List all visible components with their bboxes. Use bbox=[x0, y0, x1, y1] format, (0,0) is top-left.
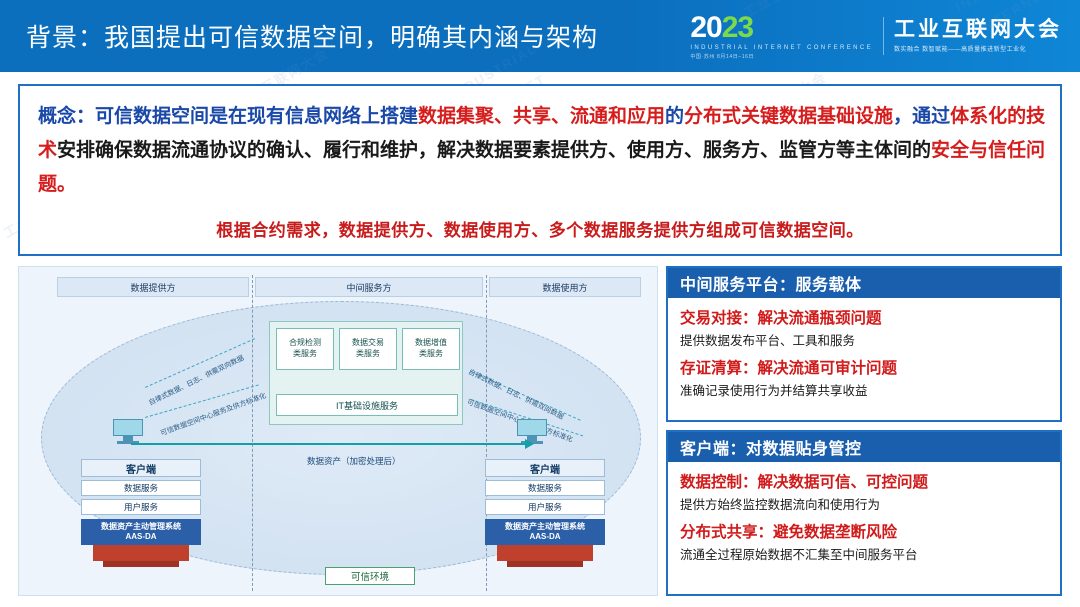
concept-summary: 根据合约需求，数据提供方、数据使用方、多个数据服务提供方组成可信数据空间。 bbox=[20, 216, 1060, 241]
concept-seg-0: 概念：可信数据空间是在现有信息网络上搭建 bbox=[38, 106, 418, 127]
kiosk-right-screen bbox=[517, 419, 547, 436]
client-right-pedestal-base bbox=[507, 561, 583, 567]
client-left-foot-line1: 数据资产主动管理系统 bbox=[101, 522, 181, 532]
architecture-diagram: 数据提供方 中间服务方 数据使用方 合规检测 类服务 数据交易 类服务 数据增值… bbox=[18, 266, 658, 596]
client-right-item-0: 数据服务 bbox=[485, 480, 605, 496]
logo-cn-title: 工业互联网大会 bbox=[894, 19, 1062, 41]
kiosk-left-icon bbox=[113, 419, 143, 445]
panel-2-head: 客户端：对数据贴身管控 bbox=[668, 432, 1060, 462]
trusted-environment-label: 可信环境 bbox=[325, 567, 415, 585]
panel-1-head: 中间服务平台：服务载体 bbox=[668, 268, 1060, 298]
service-cell-compliance: 合规检测 类服务 bbox=[276, 328, 334, 370]
client-left-foot-line2: AAS-DA bbox=[125, 532, 156, 542]
concept-seg-2: 的 bbox=[665, 106, 684, 127]
conference-logo: 2023 INDUSTRIAL INTERNET CONFERENCE 中国·苏… bbox=[690, 10, 1062, 62]
service-cell-compliance-l1: 合规检测 bbox=[289, 338, 321, 349]
panel-1-row-0-title-a: 交易对接： bbox=[680, 310, 758, 327]
service-cell-exchange-l1: 数据交易 bbox=[352, 338, 384, 349]
lane-data-consumer: 数据使用方 bbox=[489, 277, 641, 297]
client-right-pedestal bbox=[497, 545, 593, 561]
intermediary-service-box: 合规检测 类服务 数据交易 类服务 数据增值 类服务 IT基础设施服务 bbox=[269, 321, 463, 425]
service-it-infra: IT基础设施服务 bbox=[276, 394, 458, 416]
panel-2-row-1-title-a: 分布式共享： bbox=[680, 524, 773, 541]
concept-seg-1: 数据集聚、共享、流通和应用 bbox=[418, 106, 665, 127]
lane-intermediary: 中间服务方 bbox=[255, 277, 483, 297]
panel-2-row-0-title-a: 数据控制： bbox=[680, 474, 758, 491]
page-title: 背景：我国提出可信数据空间，明确其内涵与架构 bbox=[26, 18, 598, 54]
panel-2-row-0-title: 数据控制：解决数据可信、可控问题 bbox=[680, 470, 1048, 492]
panel-2-body: 数据控制：解决数据可信、可控问题 提供方始终监控数据流向和使用行为 分布式共享：… bbox=[668, 462, 1060, 563]
client-left-foot: 数据资产主动管理系统 AAS-DA bbox=[81, 519, 201, 545]
panel-1-row-1-title-b: 解决流通可审计问题 bbox=[758, 360, 898, 377]
service-cell-valueadd-l1: 数据增值 bbox=[415, 338, 447, 349]
concept-text: 概念：可信数据空间是在现有信息网络上搭建数据集聚、共享、流通和应用的分布式关键数… bbox=[38, 100, 1046, 202]
service-cell-valueadd-l2: 类服务 bbox=[419, 349, 443, 360]
client-left-title: 客户端 bbox=[81, 459, 201, 477]
panel-1-body: 交易对接：解决流通瓶颈问题 提供数据发布平台、工具和服务 存证清算：解决流通可审… bbox=[668, 298, 1060, 399]
panel-client-control: 客户端：对数据贴身管控 数据控制：解决数据可信、可控问题 提供方始终监控数据流向… bbox=[666, 430, 1062, 596]
client-left-item-1: 用户服务 bbox=[81, 499, 201, 515]
divider-line-left bbox=[252, 275, 253, 591]
data-flow-arrow-head bbox=[525, 439, 534, 449]
panel-1-row-0-title-b: 解决流通瓶颈问题 bbox=[758, 310, 882, 327]
panel-1-row-0-desc: 提供数据发布平台、工具和服务 bbox=[680, 330, 1048, 349]
panel-2-row-0-desc: 提供方始终监控数据流向和使用行为 bbox=[680, 494, 1048, 513]
panel-2-row-1-title: 分布式共享：避免数据垄断风险 bbox=[680, 520, 1048, 542]
logo-year: 2023 bbox=[690, 13, 873, 43]
panel-intermediary-platform: 中间服务平台：服务载体 交易对接：解决流通瓶颈问题 提供数据发布平台、工具和服务… bbox=[666, 266, 1062, 422]
panel-1-row-1-title-a: 存证清算： bbox=[680, 360, 758, 377]
client-right-item-1: 用户服务 bbox=[485, 499, 605, 515]
client-right-foot: 数据资产主动管理系统 AAS-DA bbox=[485, 519, 605, 545]
panel-2-row-0-title-b: 解决数据可信、可控问题 bbox=[758, 474, 929, 491]
panel-1-row-0-title: 交易对接：解决流通瓶颈问题 bbox=[680, 306, 1048, 328]
service-cell-row: 合规检测 类服务 数据交易 类服务 数据增值 类服务 bbox=[276, 328, 460, 370]
service-cell-compliance-l2: 类服务 bbox=[293, 349, 317, 360]
concept-seg-3: 分布式关键数据基础设施 bbox=[684, 106, 893, 127]
logo-year-first: 20 bbox=[690, 11, 721, 44]
concept-box: 概念：可信数据空间是在现有信息网络上搭建数据集聚、共享、流通和应用的分布式关键数… bbox=[18, 84, 1062, 256]
logo-divider bbox=[883, 17, 884, 55]
client-left: 客户端 数据服务 用户服务 数据资产主动管理系统 AAS-DA bbox=[81, 459, 201, 559]
panel-1-row-1-desc: 准确记录使用行为并结算共享收益 bbox=[680, 380, 1048, 399]
data-flow-arrow-line bbox=[131, 443, 527, 445]
slide-header: 背景：我国提出可信数据空间，明确其内涵与架构 2023 INDUSTRIAL I… bbox=[0, 0, 1080, 72]
concept-seg-6: 安排确保数据流通协议的确认、履行和维护，解决数据要素提供方、使用方、服务方、监管… bbox=[57, 140, 931, 161]
service-cell-valueadd: 数据增值 类服务 bbox=[402, 328, 460, 370]
panel-1-row-1-title: 存证清算：解决流通可审计问题 bbox=[680, 356, 1048, 378]
service-cell-exchange: 数据交易 类服务 bbox=[339, 328, 397, 370]
logo-date-sub: 中国·苏州 8月14日–16日 bbox=[690, 53, 873, 60]
client-left-item-0: 数据服务 bbox=[81, 480, 201, 496]
logo-cn-sub: 数实融合 数智赋能——高质量推进新型工业化 bbox=[894, 44, 1062, 53]
lane-data-provider: 数据提供方 bbox=[57, 277, 249, 297]
client-left-pedestal-base bbox=[103, 561, 179, 567]
kiosk-left-screen bbox=[113, 419, 143, 436]
client-right: 客户端 数据服务 用户服务 数据资产主动管理系统 AAS-DA bbox=[485, 459, 605, 559]
client-left-pedestal bbox=[93, 545, 189, 561]
client-right-title: 客户端 bbox=[485, 459, 605, 477]
logo-en-sub: INDUSTRIAL INTERNET CONFERENCE bbox=[690, 45, 873, 51]
logo-year-second: 23 bbox=[722, 11, 753, 44]
slide: 背景：我国提出可信数据空间，明确其内涵与架构 2023 INDUSTRIAL I… bbox=[0, 0, 1080, 607]
client-right-foot-line2: AAS-DA bbox=[529, 532, 560, 542]
panel-2-row-1-desc: 流通全过程原始数据不汇集至中间服务平台 bbox=[680, 544, 1048, 563]
data-asset-label: 数据资产（加密处理后） bbox=[307, 455, 401, 467]
concept-seg-4: ，通过 bbox=[893, 106, 950, 127]
service-cell-exchange-l2: 类服务 bbox=[356, 349, 380, 360]
client-right-foot-line1: 数据资产主动管理系统 bbox=[505, 522, 585, 532]
panel-2-row-1-title-b: 避免数据垄断风险 bbox=[773, 524, 897, 541]
